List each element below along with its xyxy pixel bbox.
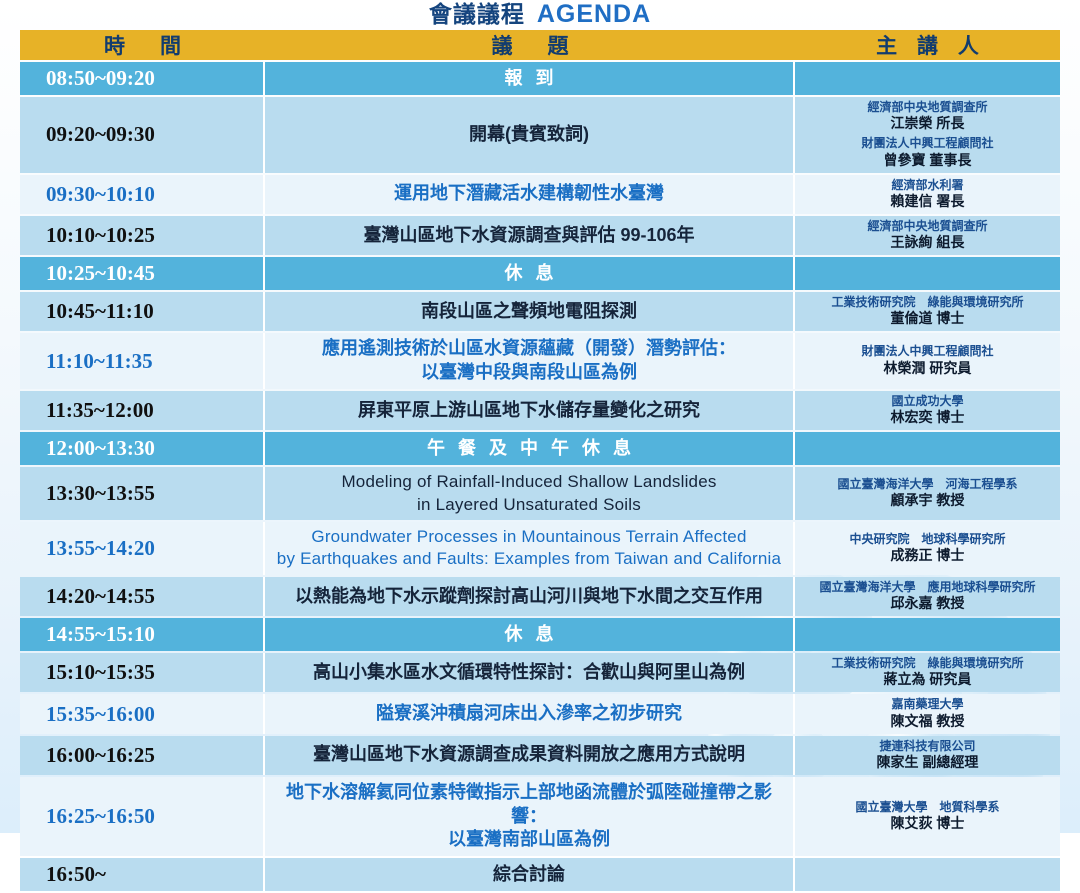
- speaker-organization: 國立成功大學: [799, 394, 1056, 409]
- speaker-organization: 經濟部水利署: [799, 178, 1056, 193]
- session-topic-line: 以臺灣中段與南段山區為例: [271, 361, 787, 385]
- session-speaker: 經濟部中央地質調查所江崇榮 所長財團法人中興工程顧問社曾參寶 董事長: [795, 97, 1060, 173]
- speaker-organization: 國立臺灣大學 地質科學系: [799, 800, 1056, 815]
- page-title: 會議議程 AGENDA: [20, 0, 1060, 28]
- speaker-organization: 國立臺灣海洋大學 河海工程學系: [799, 477, 1056, 492]
- column-header-topic: 議 題: [265, 30, 795, 60]
- speaker-organization: 中央研究院 地球科學研究所: [799, 532, 1056, 547]
- session-time: 12:00~13:30: [20, 432, 265, 465]
- speaker-block: 財團法人中興工程顧問社曾參寶 董事長: [799, 136, 1056, 169]
- speaker-organization: 經濟部中央地質調查所: [799, 100, 1056, 115]
- speaker-block: 中央研究院 地球科學研究所成務正 博士: [799, 532, 1056, 565]
- session-topic: 綜合討論: [265, 858, 795, 891]
- speaker-block: 經濟部中央地質調查所王詠絢 組長: [799, 219, 1056, 252]
- session-speaker: [795, 858, 1060, 891]
- session-speaker: [795, 62, 1060, 95]
- speaker-organization: 捷連科技有限公司: [799, 739, 1056, 754]
- session-topic-line: 運用地下潛藏活水建構韌性水臺灣: [271, 182, 787, 206]
- session-topic: 屏東平原上游山區地下水儲存量變化之研究: [265, 391, 795, 430]
- speaker-name: 林榮潤 研究員: [799, 360, 1056, 378]
- agenda-row: 16:25~16:50地下水溶解氦同位素特徵指示上部地函流體於弧陸碰撞帶之影響：…: [20, 777, 1060, 856]
- speaker-name: 蔣立為 研究員: [799, 671, 1056, 689]
- session-topic-line: 以熱能為地下水示蹤劑探討高山河川與地下水間之交互作用: [271, 585, 787, 609]
- page-title-chinese: 會議議程: [429, 3, 525, 26]
- session-topic-line: Groundwater Processes in Mountainous Ter…: [271, 526, 787, 548]
- agenda-row: 16:50~綜合討論: [20, 858, 1060, 891]
- column-header-speaker: 主 講 人: [795, 30, 1060, 60]
- session-time: 09:30~10:10: [20, 175, 265, 214]
- session-topic: 以熱能為地下水示蹤劑探討高山河川與地下水間之交互作用: [265, 577, 795, 616]
- session-topic-line: 報 到: [271, 67, 787, 91]
- session-topic-line: 休 息: [271, 623, 787, 647]
- agenda-row: 10:25~10:45休 息: [20, 257, 1060, 290]
- session-topic-line: by Earthquakes and Faults: Examples from…: [271, 548, 787, 570]
- session-time: 10:25~10:45: [20, 257, 265, 290]
- agenda-row: 10:10~10:25臺灣山區地下水資源調查與評估 99-106年經濟部中央地質…: [20, 216, 1060, 255]
- session-topic-line: 地下水溶解氦同位素特徵指示上部地函流體於弧陸碰撞帶之影響：: [271, 781, 787, 829]
- session-topic-line: 以臺灣南部山區為例: [271, 828, 787, 852]
- session-topic-line: 應用遙測技術於山區水資源蘊藏（開發）潛勢評估：: [271, 337, 787, 361]
- session-time: 11:10~11:35: [20, 333, 265, 389]
- session-speaker: [795, 618, 1060, 651]
- speaker-block: 國立臺灣海洋大學 河海工程學系顧承宇 教授: [799, 477, 1056, 510]
- session-time: 16:25~16:50: [20, 777, 265, 856]
- page-title-english: AGENDA: [537, 2, 651, 27]
- session-speaker: 國立臺灣大學 地質科學系陳艾荻 博士: [795, 777, 1060, 856]
- speaker-block: 經濟部中央地質調查所江崇榮 所長: [799, 100, 1056, 133]
- speaker-name: 董倫道 博士: [799, 310, 1056, 328]
- speaker-block: 工業技術研究院 綠能與環境研究所董倫道 博士: [799, 295, 1056, 328]
- session-topic-line: in Layered Unsaturated Soils: [271, 494, 787, 516]
- agenda-row: 14:55~15:10休 息: [20, 618, 1060, 651]
- agenda-row: 15:10~15:35高山小集水區水文循環特性探討：合歡山與阿里山為例工業技術研…: [20, 653, 1060, 692]
- session-speaker: 經濟部中央地質調查所王詠絢 組長: [795, 216, 1060, 255]
- agenda-row: 10:45~11:10南段山區之聲頻地電阻探測工業技術研究院 綠能與環境研究所董…: [20, 292, 1060, 331]
- speaker-organization: 經濟部中央地質調查所: [799, 219, 1056, 234]
- speaker-organization: 嘉南藥理大學: [799, 697, 1056, 712]
- session-speaker: 嘉南藥理大學陳文福 教授: [795, 694, 1060, 733]
- agenda-table: 時 間 議 題 主 講 人 08:50~09:20報 到09:20~09:30開…: [20, 28, 1060, 893]
- speaker-name: 王詠絢 組長: [799, 234, 1056, 252]
- agenda-row: 11:10~11:35應用遙測技術於山區水資源蘊藏（開發）潛勢評估：以臺灣中段與…: [20, 333, 1060, 389]
- speaker-name: 賴建信 署長: [799, 193, 1056, 211]
- session-time: 09:20~09:30: [20, 97, 265, 173]
- agenda-row: 15:35~16:00隘寮溪沖積扇河床出入滲率之初步研究嘉南藥理大學陳文福 教授: [20, 694, 1060, 733]
- session-topic: 南段山區之聲頻地電阻探測: [265, 292, 795, 331]
- session-topic: 地下水溶解氦同位素特徵指示上部地函流體於弧陸碰撞帶之影響：以臺灣南部山區為例: [265, 777, 795, 856]
- session-topic: 午 餐 及 中 午 休 息: [265, 432, 795, 465]
- session-topic: 開幕(貴賓致詞): [265, 97, 795, 173]
- speaker-name: 陳文福 教授: [799, 713, 1056, 731]
- header-row: 時 間 議 題 主 講 人: [20, 30, 1060, 60]
- speaker-name: 江崇榮 所長: [799, 115, 1056, 133]
- session-topic: 臺灣山區地下水資源調查成果資料開放之應用方式說明: [265, 736, 795, 775]
- session-topic-line: 休 息: [271, 262, 787, 286]
- session-speaker: [795, 257, 1060, 290]
- session-topic-line: 臺灣山區地下水資源調查與評估 99-106年: [271, 224, 787, 248]
- session-time: 10:45~11:10: [20, 292, 265, 331]
- session-topic-line: 南段山區之聲頻地電阻探測: [271, 300, 787, 324]
- speaker-name: 陳家生 副總經理: [799, 754, 1056, 772]
- session-speaker: 經濟部水利署賴建信 署長: [795, 175, 1060, 214]
- session-topic: 應用遙測技術於山區水資源蘊藏（開發）潛勢評估：以臺灣中段與南段山區為例: [265, 333, 795, 389]
- speaker-block: 國立臺灣大學 地質科學系陳艾荻 博士: [799, 800, 1056, 833]
- session-topic-line: 屏東平原上游山區地下水儲存量變化之研究: [271, 399, 787, 423]
- session-speaker: 國立成功大學林宏奕 博士: [795, 391, 1060, 430]
- speaker-block: 國立臺灣海洋大學 應用地球科學研究所邱永嘉 教授: [799, 580, 1056, 613]
- speaker-block: 國立成功大學林宏奕 博士: [799, 394, 1056, 427]
- session-speaker: 工業技術研究院 綠能與環境研究所董倫道 博士: [795, 292, 1060, 331]
- speaker-name: 成務正 博士: [799, 547, 1056, 565]
- session-topic-line: Modeling of Rainfall-Induced Shallow Lan…: [271, 471, 787, 493]
- session-topic: 休 息: [265, 618, 795, 651]
- session-topic: 休 息: [265, 257, 795, 290]
- agenda-row: 11:35~12:00屏東平原上游山區地下水儲存量變化之研究國立成功大學林宏奕 …: [20, 391, 1060, 430]
- speaker-name: 顧承宇 教授: [799, 492, 1056, 510]
- agenda-row: 16:00~16:25臺灣山區地下水資源調查成果資料開放之應用方式說明捷連科技有…: [20, 736, 1060, 775]
- session-time: 13:30~13:55: [20, 467, 265, 520]
- session-topic-line: 隘寮溪沖積扇河床出入滲率之初步研究: [271, 702, 787, 726]
- agenda-row: 09:20~09:30開幕(貴賓致詞)經濟部中央地質調查所江崇榮 所長財團法人中…: [20, 97, 1060, 173]
- session-time: 16:00~16:25: [20, 736, 265, 775]
- session-speaker: 捷連科技有限公司陳家生 副總經理: [795, 736, 1060, 775]
- session-time: 11:35~12:00: [20, 391, 265, 430]
- session-topic: Modeling of Rainfall-Induced Shallow Lan…: [265, 467, 795, 520]
- agenda-table-body: 08:50~09:20報 到09:20~09:30開幕(貴賓致詞)經濟部中央地質…: [20, 62, 1060, 891]
- speaker-name: 曾參寶 董事長: [799, 152, 1056, 170]
- session-topic-line: 臺灣山區地下水資源調查成果資料開放之應用方式說明: [271, 743, 787, 767]
- session-topic-line: 高山小集水區水文循環特性探討：合歡山與阿里山為例: [271, 661, 787, 685]
- session-speaker: 財團法人中興工程顧問社林榮潤 研究員: [795, 333, 1060, 389]
- speaker-name: 邱永嘉 教授: [799, 595, 1056, 613]
- session-speaker: 中央研究院 地球科學研究所成務正 博士: [795, 522, 1060, 575]
- session-time: 08:50~09:20: [20, 62, 265, 95]
- agenda-page: 會議議程 AGENDA 時 間 議 題 主 講 人 08:50~09:20報 到…: [0, 0, 1080, 833]
- session-time: 14:55~15:10: [20, 618, 265, 651]
- agenda-row: 12:00~13:30午 餐 及 中 午 休 息: [20, 432, 1060, 465]
- session-speaker: 工業技術研究院 綠能與環境研究所蔣立為 研究員: [795, 653, 1060, 692]
- session-topic: 臺灣山區地下水資源調查與評估 99-106年: [265, 216, 795, 255]
- session-time: 14:20~14:55: [20, 577, 265, 616]
- agenda-row: 09:30~10:10運用地下潛藏活水建構韌性水臺灣經濟部水利署賴建信 署長: [20, 175, 1060, 214]
- session-topic: 隘寮溪沖積扇河床出入滲率之初步研究: [265, 694, 795, 733]
- session-speaker: 國立臺灣海洋大學 河海工程學系顧承宇 教授: [795, 467, 1060, 520]
- session-speaker: [795, 432, 1060, 465]
- session-time: 16:50~: [20, 858, 265, 891]
- speaker-block: 工業技術研究院 綠能與環境研究所蔣立為 研究員: [799, 656, 1056, 689]
- session-topic-line: 開幕(貴賓致詞): [271, 123, 787, 147]
- speaker-organization: 工業技術研究院 綠能與環境研究所: [799, 295, 1056, 310]
- speaker-organization: 國立臺灣海洋大學 應用地球科學研究所: [799, 580, 1056, 595]
- session-time: 13:55~14:20: [20, 522, 265, 575]
- session-time: 15:35~16:00: [20, 694, 265, 733]
- session-speaker: 國立臺灣海洋大學 應用地球科學研究所邱永嘉 教授: [795, 577, 1060, 616]
- session-topic-line: 綜合討論: [271, 863, 787, 887]
- agenda-row: 14:20~14:55以熱能為地下水示蹤劑探討高山河川與地下水間之交互作用國立臺…: [20, 577, 1060, 616]
- speaker-name: 林宏奕 博士: [799, 409, 1056, 427]
- speaker-organization: 財團法人中興工程顧問社: [799, 136, 1056, 151]
- speaker-block: 捷連科技有限公司陳家生 副總經理: [799, 739, 1056, 772]
- column-header-time: 時 間: [20, 30, 265, 60]
- agenda-row: 13:30~13:55Modeling of Rainfall-Induced …: [20, 467, 1060, 520]
- session-time: 10:10~10:25: [20, 216, 265, 255]
- session-time: 15:10~15:35: [20, 653, 265, 692]
- session-topic: 高山小集水區水文循環特性探討：合歡山與阿里山為例: [265, 653, 795, 692]
- speaker-name: 陳艾荻 博士: [799, 815, 1056, 833]
- session-topic: 運用地下潛藏活水建構韌性水臺灣: [265, 175, 795, 214]
- session-topic: Groundwater Processes in Mountainous Ter…: [265, 522, 795, 575]
- session-topic: 報 到: [265, 62, 795, 95]
- speaker-block: 經濟部水利署賴建信 署長: [799, 178, 1056, 211]
- speaker-organization: 工業技術研究院 綠能與環境研究所: [799, 656, 1056, 671]
- speaker-organization: 財團法人中興工程顧問社: [799, 344, 1056, 359]
- speaker-block: 財團法人中興工程顧問社林榮潤 研究員: [799, 344, 1056, 377]
- session-topic-line: 午 餐 及 中 午 休 息: [271, 437, 787, 461]
- agenda-row: 08:50~09:20報 到: [20, 62, 1060, 95]
- speaker-block: 嘉南藥理大學陳文福 教授: [799, 697, 1056, 730]
- agenda-row: 13:55~14:20Groundwater Processes in Moun…: [20, 522, 1060, 575]
- agenda-table-header: 時 間 議 題 主 講 人: [20, 30, 1060, 60]
